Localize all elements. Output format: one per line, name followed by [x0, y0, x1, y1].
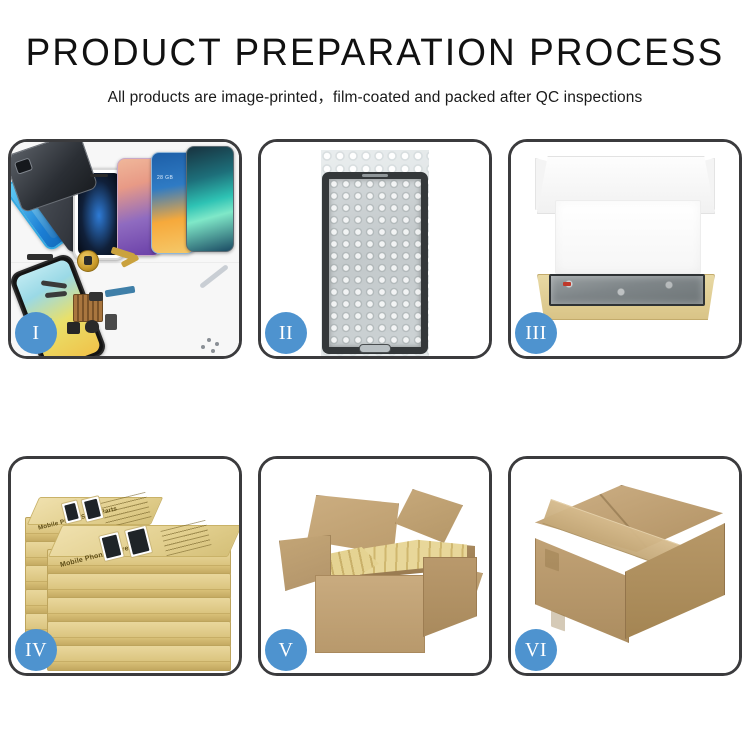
step-panel-stacked-gold-boxes[interactable]: Mobile Phone Spare Parts Mobile Phone Sp…: [8, 456, 242, 676]
step-panel-bubble-wrapped-screen[interactable]: II: [258, 139, 492, 359]
poster-page: PRODUCT PREPARATION PROCESS All products…: [0, 0, 750, 750]
shipping-carton-open: [279, 489, 477, 661]
screen-glass-digitizer: [322, 172, 428, 354]
page-subtitle: All products are image-printed，film-coat…: [0, 85, 750, 107]
speaker-coil-part: [77, 250, 99, 272]
gold-box-front-4: [47, 621, 231, 647]
phone-notch: [90, 174, 108, 177]
ic-chip-part: [105, 314, 117, 330]
step-badge-4: IV: [15, 629, 57, 671]
camera-part-3: [85, 320, 99, 333]
earpiece-speaker-part: [27, 254, 53, 260]
gold-box-front-2: [47, 573, 231, 599]
step-badge-2: II: [265, 312, 307, 354]
step-badge-5: V: [265, 629, 307, 671]
bubble-overlay: [329, 179, 421, 347]
step-badge-3: III: [515, 312, 557, 354]
process-steps-grid: 28 GB I: [8, 139, 742, 676]
screen-in-box: [549, 274, 705, 306]
foam-padding: [555, 200, 701, 274]
camera-module-icon: [14, 157, 33, 175]
step-badge-1: I: [15, 312, 57, 354]
step-panel-open-kraft-box-with-foam[interactable]: III: [508, 139, 742, 359]
carton-front-face: [315, 575, 425, 653]
phone-screen-text: 28 GB: [157, 175, 173, 181]
phone-teal-wave: [186, 146, 234, 252]
step-panel-phones-and-spare-parts[interactable]: 28 GB I: [8, 139, 242, 359]
carton-flap-back-right: [395, 489, 463, 543]
step-panel-sealed-carton[interactable]: VI: [508, 456, 742, 676]
connector-part: [89, 292, 103, 301]
screws-part: [207, 338, 211, 342]
camera-part-2: [67, 322, 80, 334]
gold-box-front-5: [47, 645, 231, 671]
carton-right-face: [423, 557, 477, 637]
gold-box-front-3: [47, 597, 231, 623]
shipping-carton-sealed: [525, 485, 731, 661]
step-badge-6: VI: [515, 629, 557, 671]
poster-header: PRODUCT PREPARATION PROCESS All products…: [0, 0, 750, 107]
page-title: PRODUCT PREPARATION PROCESS: [11, 34, 739, 74]
red-label-mark: [563, 282, 571, 286]
step-panel-open-carton-filled[interactable]: V: [258, 456, 492, 676]
